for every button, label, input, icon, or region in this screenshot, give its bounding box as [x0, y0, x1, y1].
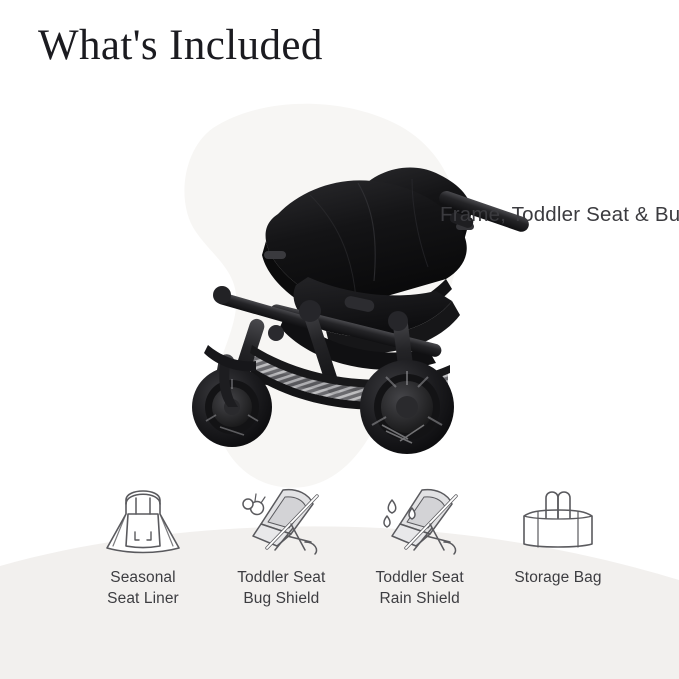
rear-wheel	[360, 360, 454, 454]
page-title: What's Included	[38, 21, 323, 70]
accessory-list: Seasonal Seat Liner	[78, 478, 623, 628]
rain-shield-icon	[370, 478, 470, 556]
bug-shield-icon	[231, 478, 331, 556]
stroller-illustration	[160, 95, 540, 455]
accessory-item-rain-shield: Toddler Seat Rain Shield	[355, 478, 485, 609]
accessory-label: Seasonal Seat Liner	[107, 567, 179, 609]
storage-bag-icon	[508, 478, 608, 556]
accessory-label: Storage Bag	[514, 567, 601, 588]
accessory-item-storage-bag: Storage Bag	[493, 478, 623, 588]
accessory-item-bug-shield: Toddler Seat Bug Shield	[216, 478, 346, 609]
accessory-item-seat-liner: Seasonal Seat Liner	[78, 478, 208, 609]
infographic-page: What's Included	[0, 0, 679, 679]
accessory-label: Toddler Seat Rain Shield	[376, 567, 464, 609]
accessory-label: Toddler Seat Bug Shield	[237, 567, 325, 609]
hero-callout-label: Frame, Toddler Seat & Bumper Bar	[440, 200, 679, 230]
seat-liner-icon	[93, 478, 193, 556]
